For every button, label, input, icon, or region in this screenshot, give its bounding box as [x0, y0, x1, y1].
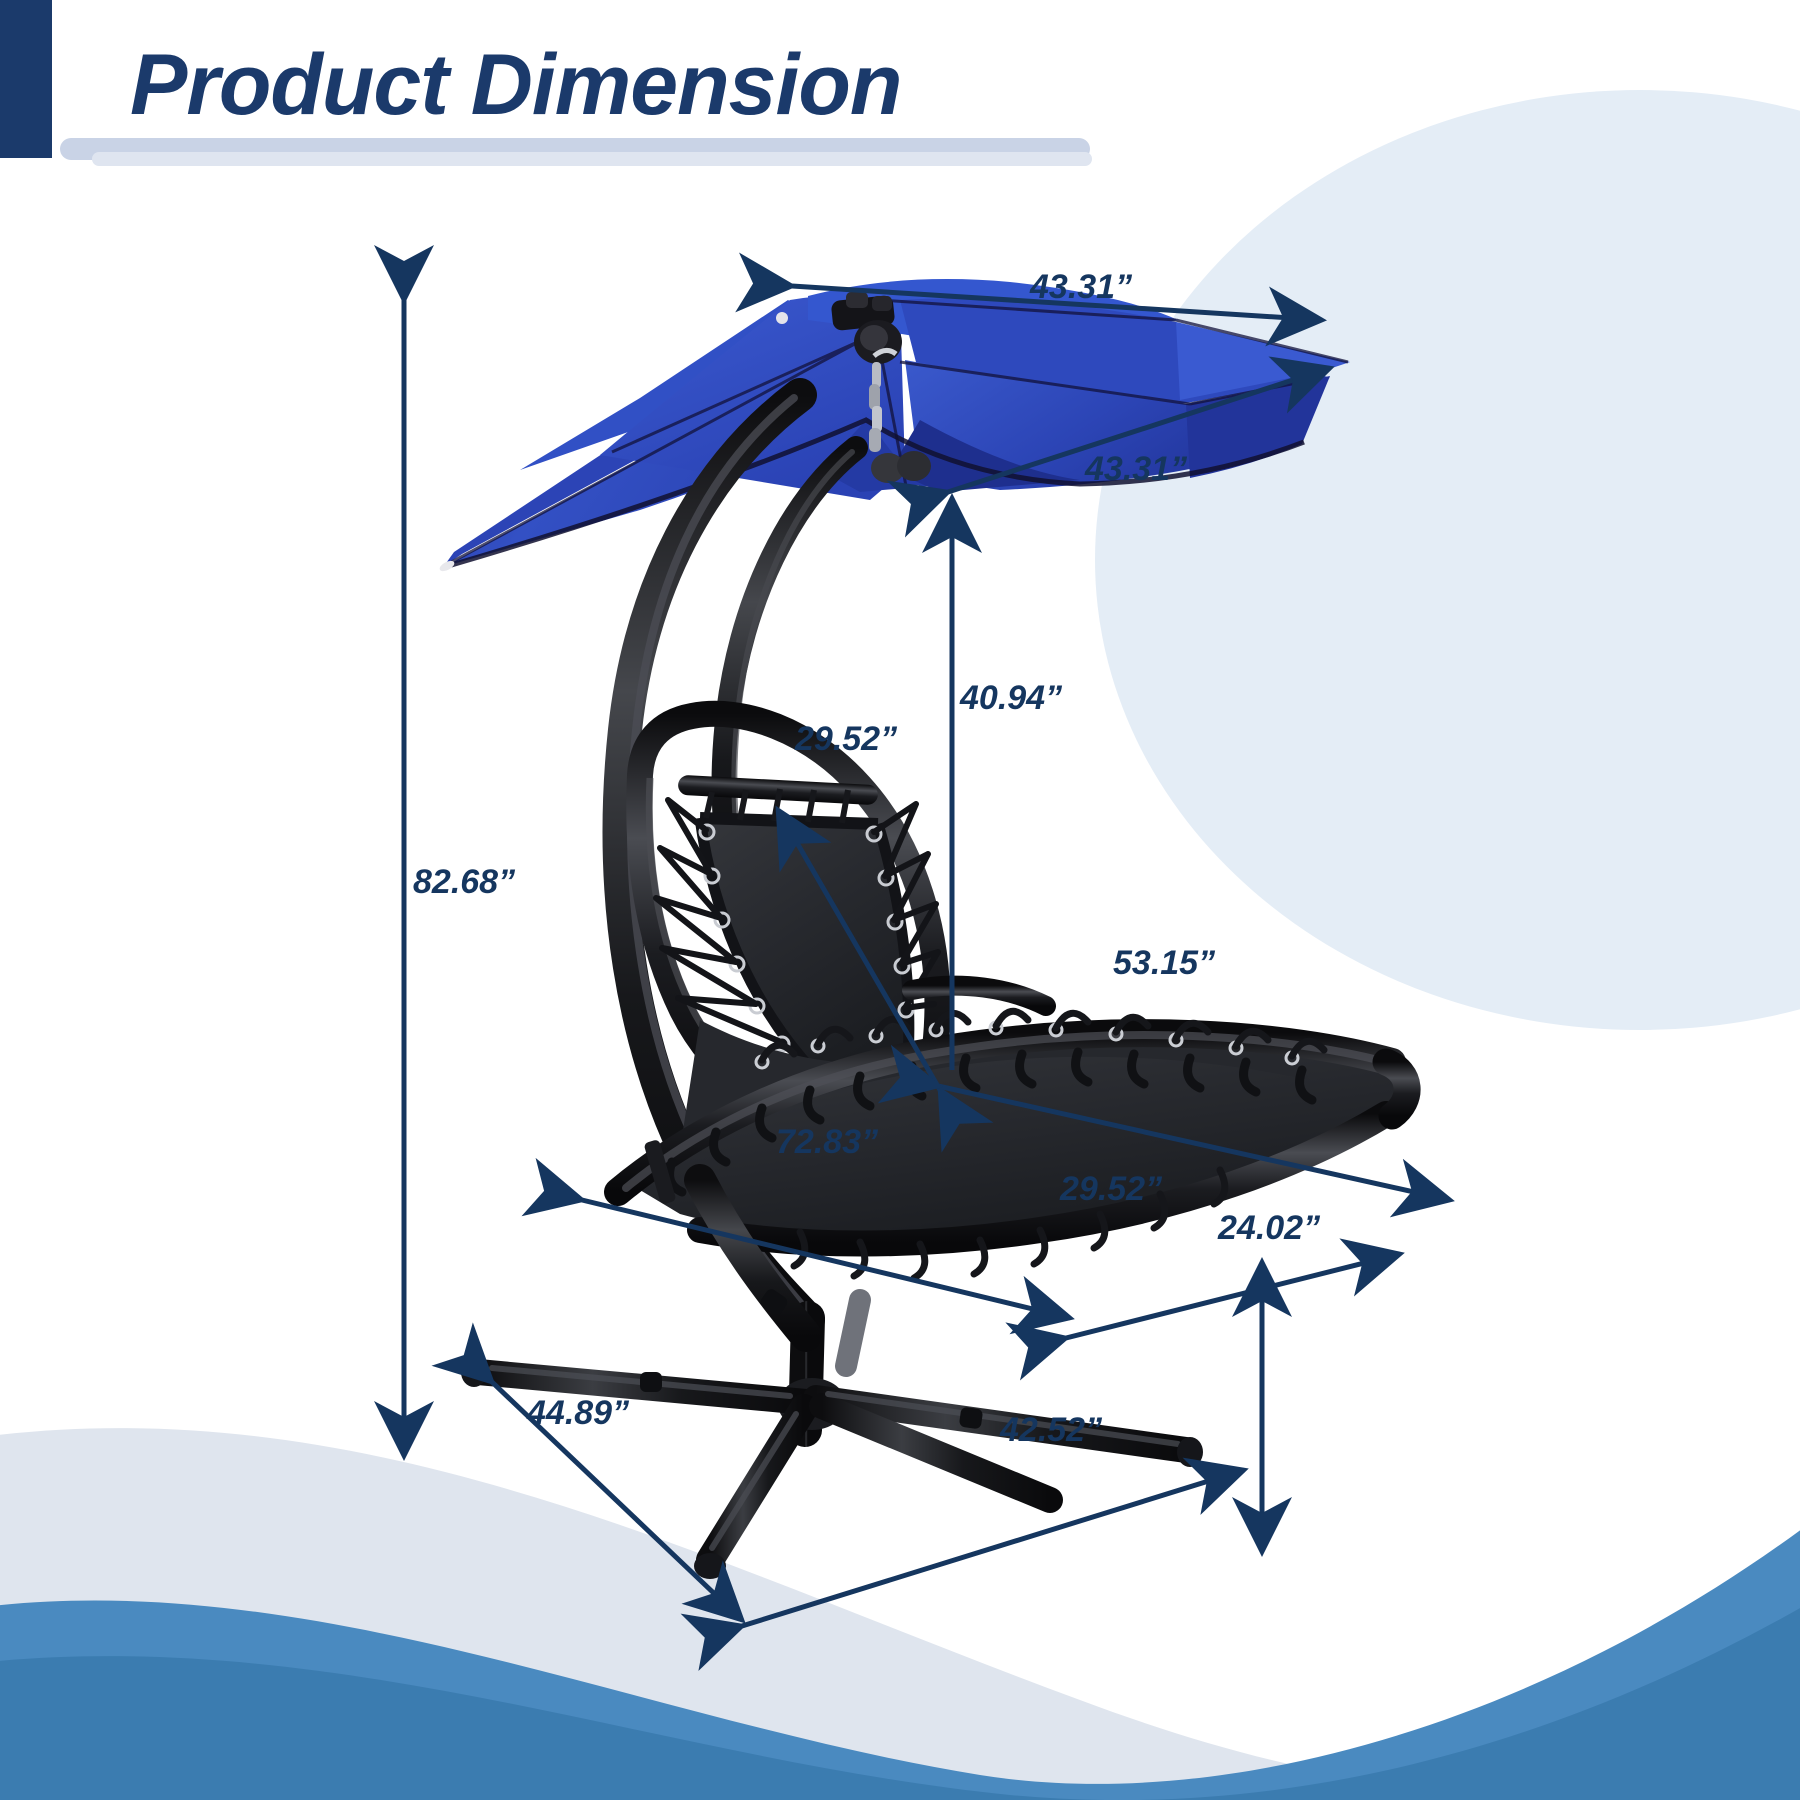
- dimension-label-seat-height: 24.02”: [1218, 1209, 1320, 1248]
- dimension-label-canopy-depth: 43.31”: [1085, 450, 1187, 489]
- dimension-label-canopy-height: 40.94”: [960, 679, 1062, 718]
- dimension-label-overall-height: 82.68”: [413, 863, 515, 902]
- dimension-label-canopy-width: 43.31”: [1030, 268, 1132, 307]
- dimension-label-lounger-diagonal: 53.15”: [1113, 944, 1215, 983]
- dimension-labels: 43.31”43.31”40.94”29.52”82.68”53.15”72.8…: [0, 0, 1800, 1800]
- dimension-label-seat-back-diagonal: 29.52”: [795, 720, 897, 759]
- dimension-label-base-width: 42.52”: [1000, 1411, 1102, 1450]
- dimension-label-lounger-length: 72.83”: [776, 1123, 878, 1162]
- dimension-label-base-diagonal: 44.89”: [527, 1394, 629, 1433]
- dimension-label-lounger-width: 29.52”: [1060, 1170, 1162, 1209]
- product-dimension-diagram: Product Dimension 43.31”43.31”40.94”29.5…: [0, 0, 1800, 1800]
